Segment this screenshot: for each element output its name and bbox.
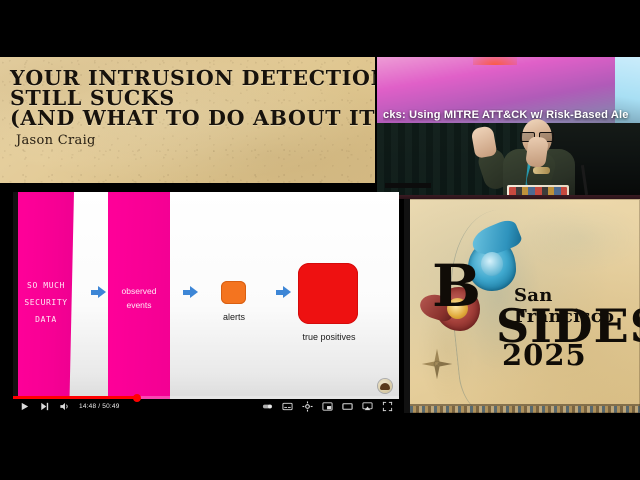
subtitles-icon[interactable] bbox=[282, 401, 293, 412]
slide-box-alerts bbox=[221, 281, 246, 304]
player-controls-right bbox=[262, 399, 393, 414]
slide-label-observed-events: observed events bbox=[109, 284, 169, 312]
label-line: observed bbox=[109, 284, 169, 298]
slide-caption-true-positives: true positives bbox=[294, 332, 364, 342]
play-icon[interactable] bbox=[19, 401, 30, 412]
label-line: SECURITY bbox=[20, 294, 72, 311]
video-surface[interactable]: SO MUCH SECURITY DATA observed events al… bbox=[13, 192, 399, 399]
theater-mode-icon[interactable] bbox=[342, 401, 353, 412]
slide-caption-alerts: alerts bbox=[210, 312, 258, 322]
wristwatch bbox=[533, 167, 550, 174]
volume-icon[interactable] bbox=[59, 401, 70, 412]
player-controls-left: 14:48 / 50:49 bbox=[19, 399, 120, 414]
title-line-3: (AND WHAT TO DO ABOUT IT) bbox=[10, 106, 375, 130]
speaker-video-pane: cks: Using MITRE ATT&CK w/ Risk-Based Al… bbox=[377, 57, 640, 199]
youtube-player[interactable]: SO MUCH SECURITY DATA observed events al… bbox=[13, 192, 399, 414]
projected-slide-title: cks: Using MITRE ATT&CK w/ Risk-Based Al… bbox=[383, 109, 640, 121]
miniplayer-icon[interactable] bbox=[322, 401, 333, 412]
label-line: events bbox=[109, 298, 169, 312]
bsides-poster: B San Francisco SIDES 2025 bbox=[404, 199, 640, 413]
stage-monitor bbox=[385, 183, 431, 188]
fullscreen-icon[interactable] bbox=[382, 401, 393, 412]
settings-gear-icon[interactable] bbox=[302, 401, 313, 412]
slide-box-true-positives bbox=[298, 263, 358, 324]
slide-label-security-data: SO MUCH SECURITY DATA bbox=[20, 277, 72, 328]
time-display: 14:48 / 50:49 bbox=[79, 403, 120, 410]
channel-watermark-icon[interactable] bbox=[378, 379, 392, 393]
label-line: SO MUCH bbox=[20, 277, 72, 294]
speaker-name: Jason Craig bbox=[16, 133, 96, 148]
autoplay-toggle-icon[interactable] bbox=[262, 401, 273, 412]
poster-frame bbox=[404, 199, 640, 413]
player-control-bar[interactable]: 14:48 / 50:49 bbox=[13, 399, 399, 414]
talk-title-card: YOUR INTRUSION DETECTION STILL SUCKS (AN… bbox=[0, 57, 375, 183]
screen-root: YOUR INTRUSION DETECTION STILL SUCKS (AN… bbox=[0, 0, 640, 480]
poster-left-letterbox bbox=[404, 199, 410, 413]
label-line: DATA bbox=[20, 311, 72, 328]
screen-glow bbox=[473, 57, 517, 65]
next-track-icon[interactable] bbox=[39, 401, 50, 412]
airplay-cast-icon[interactable] bbox=[362, 401, 373, 412]
